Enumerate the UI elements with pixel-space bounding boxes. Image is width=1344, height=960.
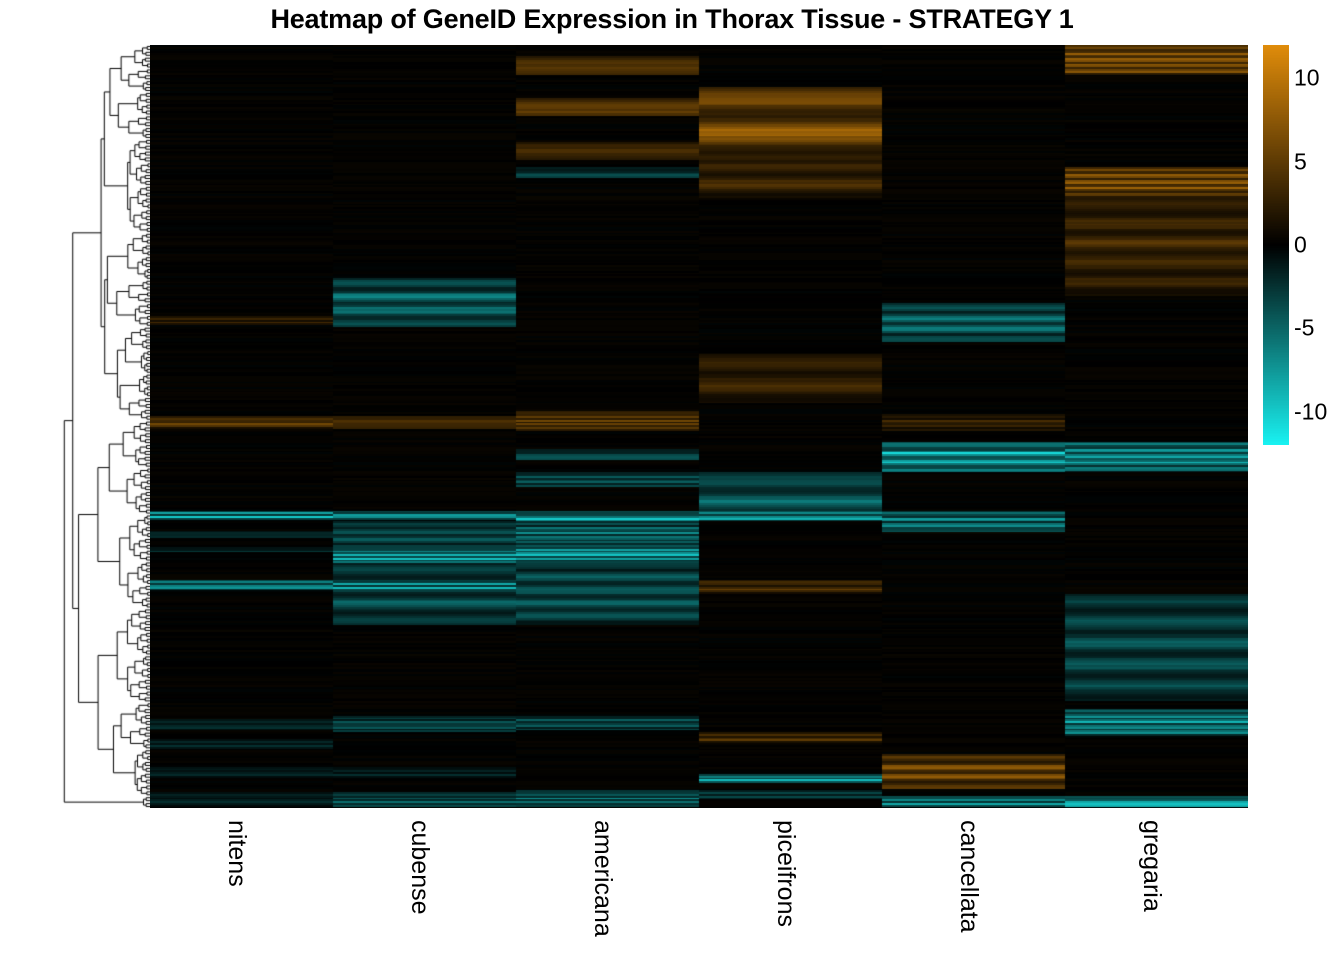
heatmap-plot-area (150, 45, 1248, 808)
column-label-gregaria: gregaria (1137, 820, 1166, 912)
colorbar-tick-1: 5 (1294, 150, 1307, 173)
column-label-cancellata: cancellata (954, 820, 983, 933)
column-label-piceifrons: piceifrons (771, 820, 800, 927)
column-label-americana: americana (588, 820, 617, 937)
column-label-nitens: nitens (222, 820, 251, 887)
colorbar-tick-0: 10 (1294, 67, 1320, 90)
page-title: Heatmap of GeneID Expression in Thorax T… (0, 4, 1344, 35)
colorbar-gradient (1263, 45, 1289, 445)
colorbar-tick-labels: 1050-5-10 (1294, 45, 1344, 445)
column-axis-labels: nitenscubenseamericanapiceifronscancella… (150, 812, 1248, 960)
colorbar-tick-4: -10 (1294, 400, 1327, 423)
column-label-cubense: cubense (405, 820, 434, 915)
colorbar-tick-2: 0 (1294, 234, 1307, 257)
heatmap-figure: Heatmap of GeneID Expression in Thorax T… (0, 0, 1344, 960)
row-dendrogram (8, 45, 150, 808)
colorbar-tick-3: -5 (1294, 317, 1314, 340)
